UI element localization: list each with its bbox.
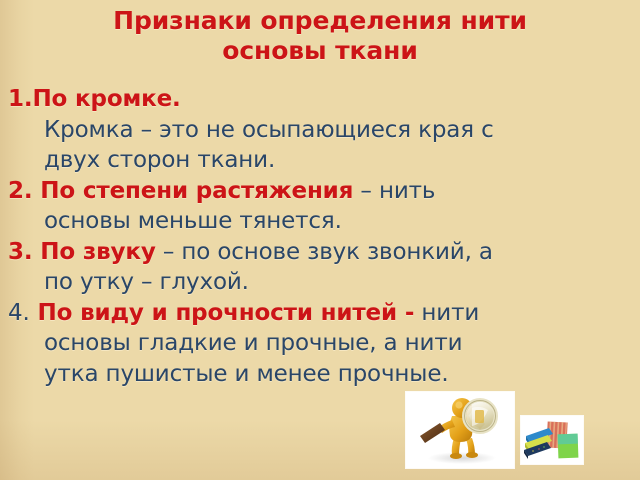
list-item-2-body-line-1: основы меньше тянется. (8, 206, 634, 237)
list-item-1-title: По кромке. (32, 86, 180, 112)
criteria-list: 1.По кромке. Кромка – это не осыпающиеся… (8, 84, 634, 389)
list-item-2-number: 2. (8, 178, 32, 204)
list-item-4-body-line-2: утка пушистые и менее прочные. (8, 359, 634, 390)
list-item-1-body-line-2: двух сторон ткани. (8, 145, 634, 176)
list-item-4-number: 4. (8, 300, 30, 326)
inspector-with-magnifier-image (406, 392, 514, 468)
slide-title: Признаки определения нити основы ткани (0, 6, 640, 66)
list-item-4-title: По виду и прочности нитей - (30, 300, 415, 326)
list-item-3-number: 3. (8, 239, 32, 265)
list-item-4-body-line-1: основы гладкие и прочные, а нити (8, 328, 634, 359)
list-item-2-heading: 2. По степени растяжения – нить (8, 176, 634, 207)
list-item-3-body-line-1: по утку – глухой. (8, 267, 634, 298)
list-item-4-heading: 4. По виду и прочности нитей - нити (8, 298, 634, 329)
list-item-3-heading: 3. По звуку – по основе звук звонкий, а (8, 237, 634, 268)
list-item-3-title: По звуку (32, 239, 155, 265)
list-item-2-title: По степени растяжения (32, 178, 353, 204)
inspector-figure-icon (406, 392, 514, 468)
list-item-1-body-line-1: Кромка – это не осыпающиеся края с (8, 115, 634, 146)
list-item-2-tail: – нить (353, 178, 435, 204)
fabric-swatches-icon (521, 416, 583, 464)
list-item-3-tail: – по основе звук звонкий, а (156, 239, 493, 265)
slide-title-line-1: Признаки определения нити (0, 6, 640, 36)
list-item-1-number: 1. (8, 86, 32, 112)
fabric-swatches-image (521, 416, 583, 464)
slide-title-line-2: основы ткани (0, 36, 640, 66)
list-item-1-heading: 1.По кромке. (8, 84, 634, 115)
list-item-4-tail: нити (414, 300, 479, 326)
slide-canvas: Признаки определения нити основы ткани 1… (0, 0, 640, 480)
